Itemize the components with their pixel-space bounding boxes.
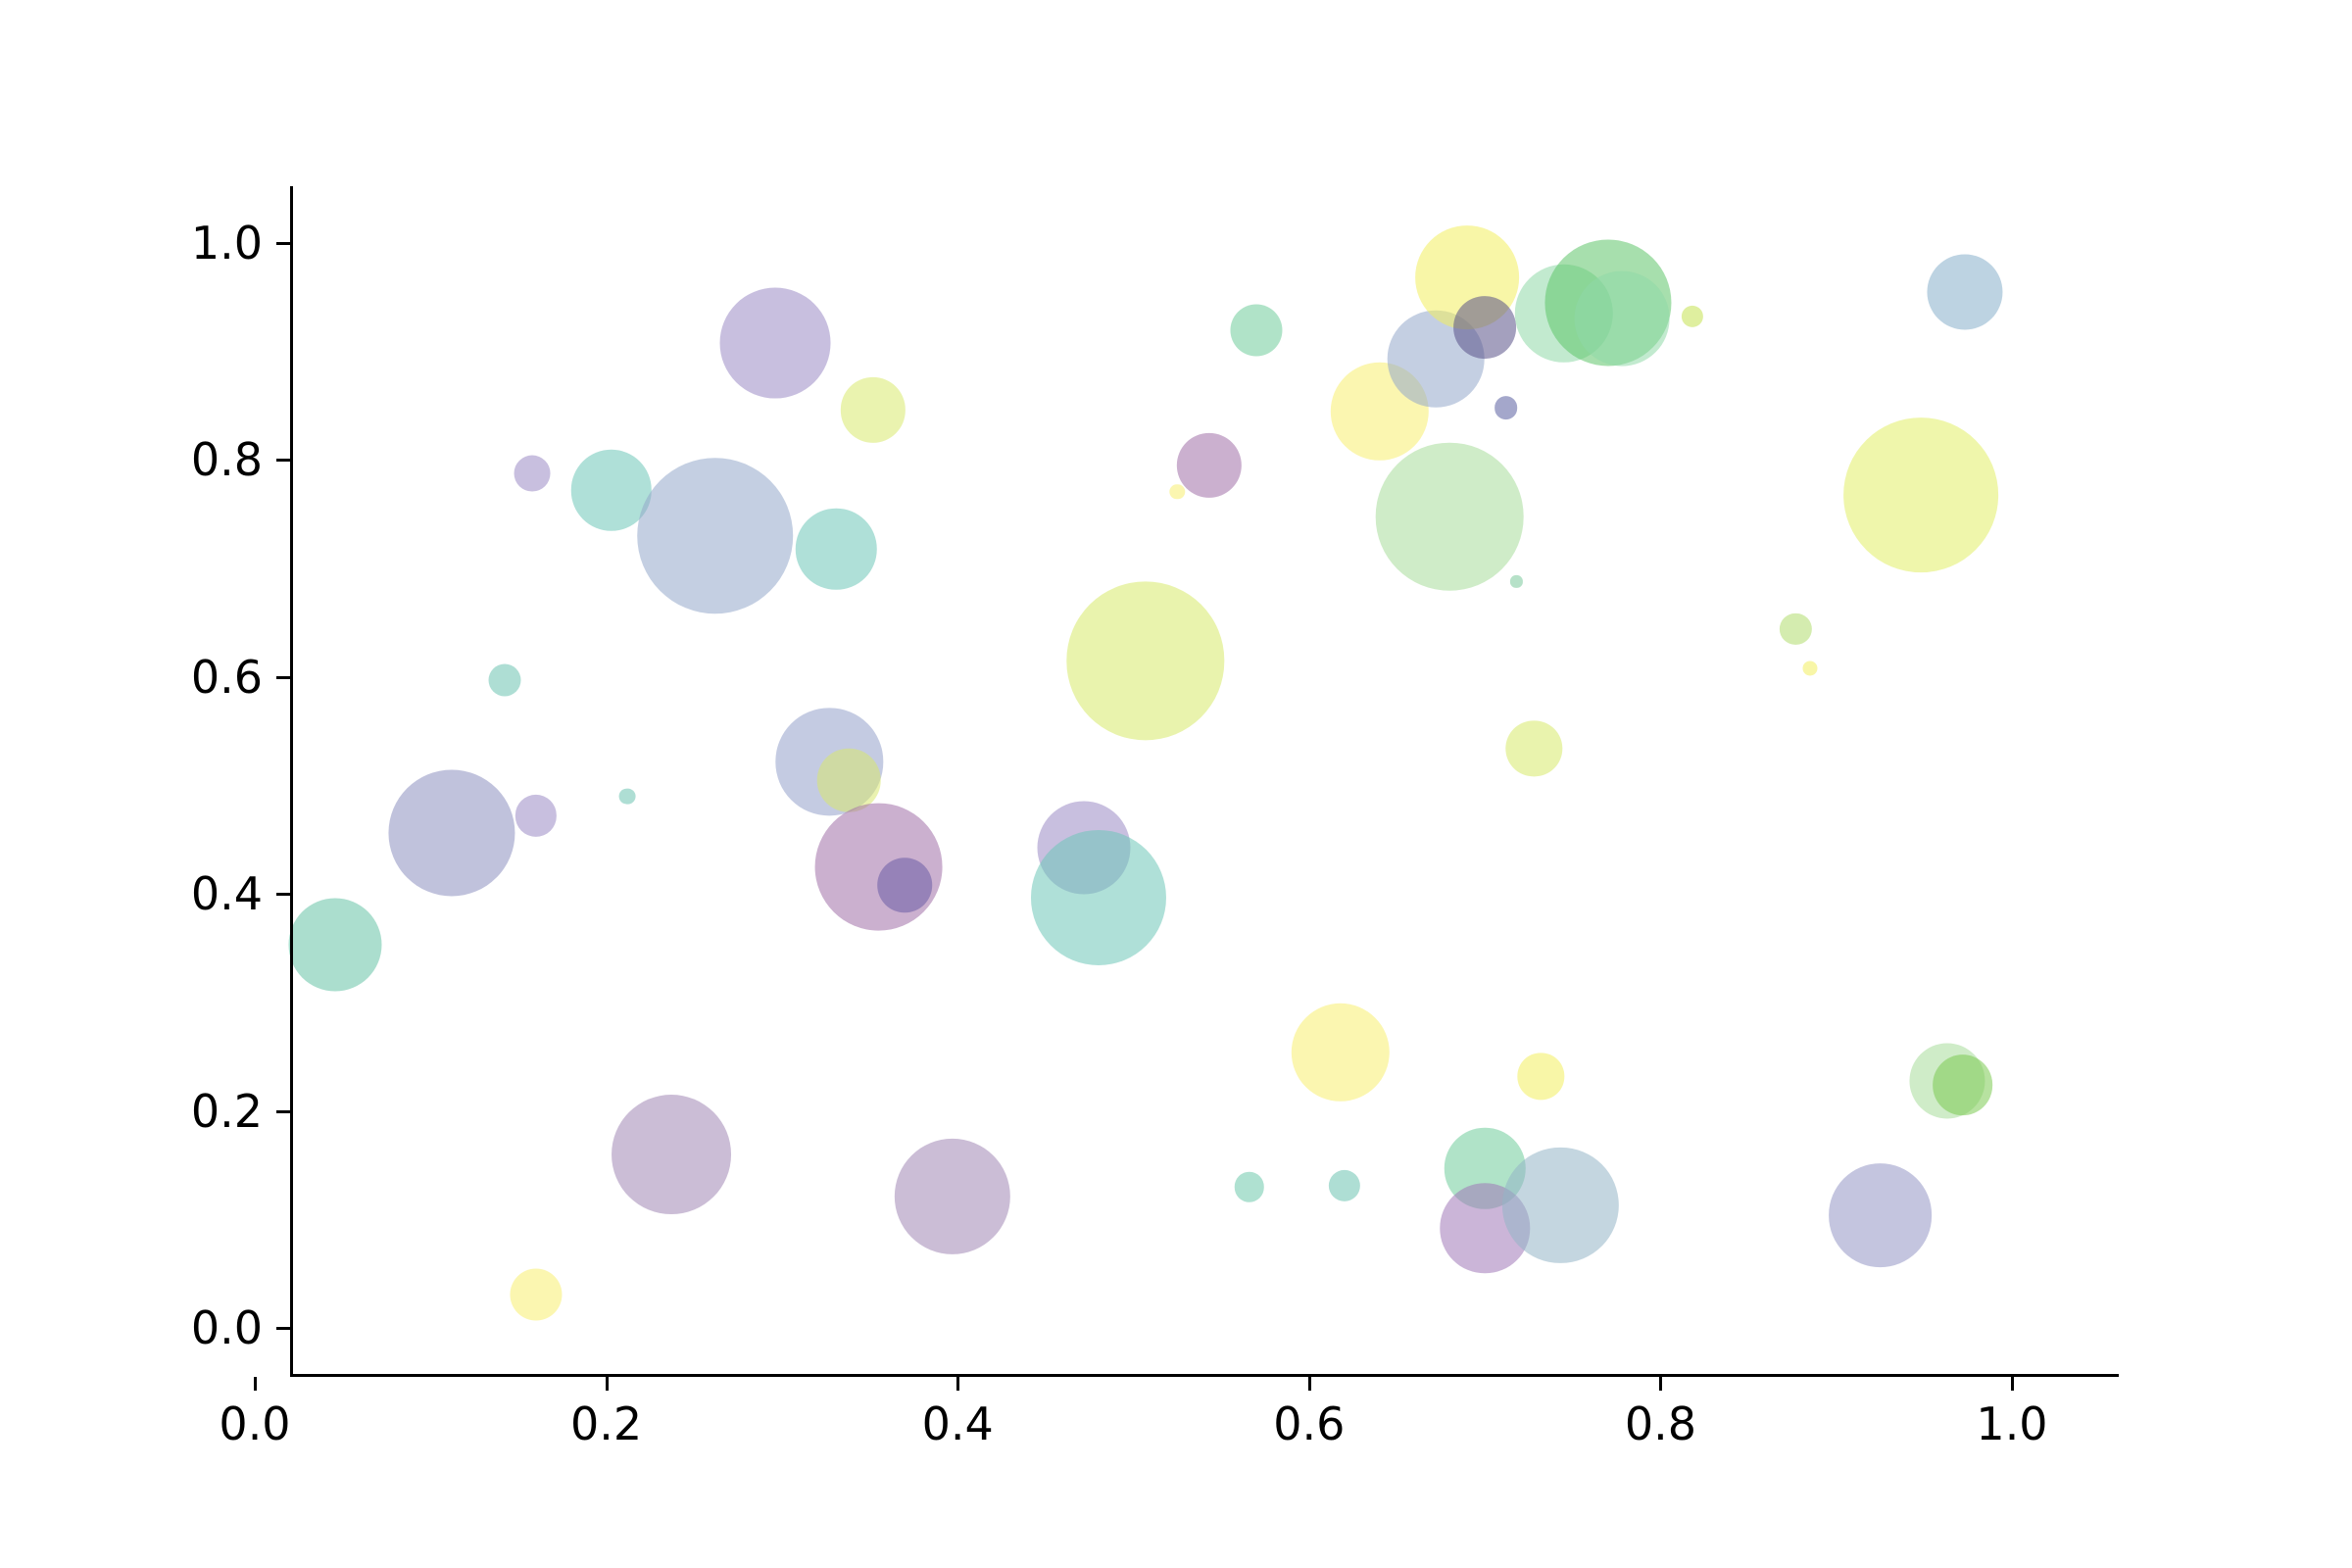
scatter-point bbox=[289, 899, 382, 992]
scatter-point bbox=[388, 770, 514, 897]
scatter-point bbox=[1066, 582, 1224, 740]
scatter-point bbox=[1292, 1004, 1390, 1102]
scatter-point bbox=[1506, 720, 1562, 776]
scatter-point bbox=[637, 458, 794, 614]
scatter-bubbles-layer bbox=[0, 0, 2352, 1568]
scatter-point bbox=[1329, 1170, 1360, 1201]
scatter-point bbox=[514, 455, 551, 491]
scatter-point bbox=[1829, 1163, 1933, 1267]
scatter-point bbox=[1802, 661, 1817, 675]
scatter-point bbox=[619, 788, 636, 805]
scatter-point bbox=[1453, 296, 1516, 359]
scatter-point bbox=[1376, 443, 1524, 591]
scatter-point bbox=[488, 664, 520, 697]
scatter-point bbox=[878, 858, 933, 913]
scatter-point bbox=[612, 1095, 731, 1214]
scatter-point bbox=[1230, 304, 1282, 356]
scatter-point bbox=[796, 509, 876, 589]
scatter-point bbox=[1502, 1148, 1618, 1263]
scatter-point bbox=[1170, 484, 1185, 499]
scatter-point bbox=[1780, 613, 1811, 645]
scatter-point bbox=[1510, 575, 1522, 587]
scatter-point bbox=[841, 377, 906, 442]
scatter-point bbox=[515, 795, 557, 836]
scatter-point bbox=[895, 1139, 1010, 1254]
scatter-point bbox=[510, 1268, 562, 1320]
scatter-point bbox=[1518, 1053, 1564, 1100]
scatter-point bbox=[1682, 306, 1703, 327]
matplotlib-figure: 0.00.20.40.60.81.0 0.00.20.40.60.81.0 bbox=[0, 0, 2352, 1568]
scatter-point bbox=[1494, 396, 1518, 419]
scatter-point bbox=[1933, 1054, 1993, 1115]
scatter-point bbox=[1575, 271, 1670, 367]
scatter-point bbox=[1927, 254, 2002, 329]
scatter-point bbox=[719, 287, 830, 398]
scatter-point bbox=[1843, 417, 1998, 572]
scatter-point bbox=[1176, 433, 1241, 498]
scatter-point bbox=[1031, 829, 1166, 964]
scatter-point bbox=[1235, 1172, 1264, 1201]
